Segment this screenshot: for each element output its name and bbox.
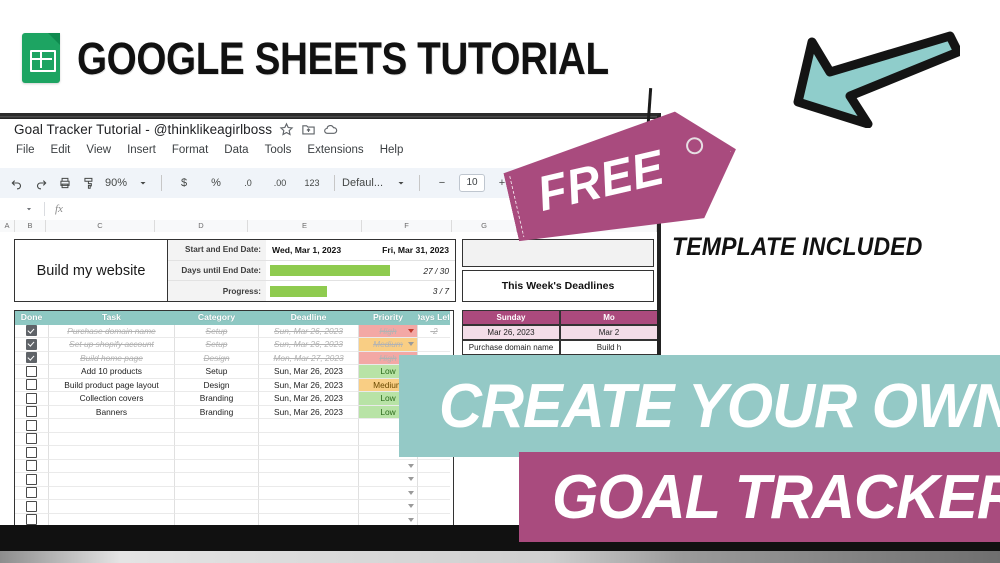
task-days-left-cell	[418, 338, 450, 352]
goal-tracker-text: GOAL TRACKER	[552, 462, 1000, 533]
goal-name[interactable]: Build my website	[15, 240, 168, 301]
create-your-own-banner: CREATE YOUR OWN	[399, 355, 1000, 457]
weekly-deadlines-card: This Week's Deadlines	[462, 270, 654, 302]
paint-format-icon[interactable]	[78, 172, 100, 194]
task-done-cell[interactable]	[15, 473, 49, 487]
chevron-down-icon[interactable]	[390, 172, 412, 194]
checkbox-icon[interactable]	[26, 420, 37, 431]
column-category: Category	[175, 311, 259, 325]
menu-item-edit[interactable]: Edit	[49, 143, 73, 157]
task-name-cell[interactable]	[49, 446, 175, 460]
fx-label: fx	[44, 202, 63, 216]
table-row[interactable]: BannersBrandingSun, Mar 26, 2023Low	[15, 406, 453, 420]
task-done-cell[interactable]	[15, 365, 49, 379]
column-header-f[interactable]: F	[362, 220, 452, 232]
task-deadline-cell[interactable]: Sun, Mar 26, 2023	[259, 392, 359, 406]
task-deadline-cell[interactable]	[259, 446, 359, 460]
task-done-cell[interactable]	[15, 406, 49, 420]
task-table-header-row: Done Task Category Deadline Priority Day…	[15, 311, 453, 325]
document-title-row: Goal Tracker Tutorial - @thinklikeagirlb…	[14, 122, 338, 137]
task-category-cell[interactable]: Setup	[175, 338, 259, 352]
undo-icon[interactable]	[6, 172, 28, 194]
more-formats-button[interactable]: 123	[297, 172, 327, 194]
menu-item-format[interactable]: Format	[170, 143, 210, 157]
task-name-cell[interactable]: Set up shopify account	[49, 338, 175, 352]
goal-summary-card: Build my website Start and End Date: Wed…	[14, 239, 456, 302]
laptop-lip	[0, 551, 1000, 563]
task-done-cell[interactable]	[15, 352, 49, 366]
task-category-cell[interactable]: Design	[175, 379, 259, 393]
task-name-cell[interactable]	[49, 460, 175, 474]
week-date-row: Mar 26, 2023 Mar 2	[462, 325, 657, 340]
task-deadline-cell[interactable]	[259, 487, 359, 501]
dropdown-caret-icon[interactable]	[408, 518, 414, 522]
task-days-left-cell	[418, 500, 450, 514]
task-category-cell[interactable]: Setup	[175, 325, 259, 339]
task-category-cell[interactable]	[175, 500, 259, 514]
week-header-row: Sunday Mo	[462, 310, 657, 325]
goal-stats: Start and End Date: Wed, Mar 1, 2023 Fri…	[168, 240, 455, 301]
move-to-folder-icon[interactable]	[301, 122, 316, 137]
menu-item-help[interactable]: Help	[378, 143, 406, 157]
days-until-end-label: Days until End Date:	[168, 261, 266, 281]
task-done-cell[interactable]	[15, 487, 49, 501]
percent-format-button[interactable]: %	[201, 172, 231, 194]
goal-stat-progress: Progress: 3 / 7	[168, 281, 455, 301]
page-title: GOOGLE SHEETS TUTORIAL	[77, 36, 609, 81]
column-deadline: Deadline	[259, 311, 359, 325]
table-row[interactable]: Build product page layoutDesignSun, Mar …	[15, 379, 453, 393]
menu-item-view[interactable]: View	[84, 143, 113, 157]
hero-header: GOOGLE SHEETS TUTORIAL	[0, 22, 640, 94]
checkbox-icon[interactable]	[26, 352, 37, 363]
task-days-left-cell	[418, 473, 450, 487]
task-priority-cell[interactable]	[359, 460, 418, 474]
table-row[interactable]	[15, 473, 453, 487]
menu-item-insert[interactable]: Insert	[125, 143, 158, 157]
cloud-saved-icon[interactable]	[323, 122, 338, 137]
column-done: Done	[15, 311, 49, 325]
checkbox-icon[interactable]	[26, 325, 37, 336]
checkbox-icon[interactable]	[26, 393, 37, 404]
task-deadline-cell[interactable]	[259, 433, 359, 447]
task-deadline-cell[interactable]	[259, 500, 359, 514]
progress-ratio-value: 3 / 7	[403, 286, 455, 296]
task-name-cell[interactable]: Add 10 products	[49, 365, 175, 379]
checkbox-icon[interactable]	[26, 379, 37, 390]
toolbar-divider-2	[334, 175, 335, 191]
task-priority-cell[interactable]: High	[359, 325, 418, 339]
task-category-cell[interactable]	[175, 487, 259, 501]
task-table: Done Task Category Deadline Priority Day…	[14, 310, 454, 528]
zoom-level[interactable]: 90%	[102, 177, 130, 189]
task-done-cell[interactable]	[15, 500, 49, 514]
task-done-cell[interactable]	[15, 419, 49, 433]
task-name-cell[interactable]	[49, 473, 175, 487]
menu-item-data[interactable]: Data	[222, 143, 250, 157]
week-day-monday: Mo	[560, 310, 657, 325]
task-name-cell[interactable]	[49, 419, 175, 433]
dropdown-caret-icon[interactable]	[408, 477, 414, 481]
task-done-cell[interactable]	[15, 460, 49, 474]
table-row[interactable]	[15, 500, 453, 514]
task-deadline-cell[interactable]: Mon, Mar 27, 2023	[259, 352, 359, 366]
dropdown-caret-icon[interactable]	[408, 504, 414, 508]
week-date-sunday: Mar 26, 2023	[462, 325, 560, 340]
checkbox-icon[interactable]	[26, 514, 37, 525]
column-header-g[interactable]: G	[452, 220, 517, 232]
task-name-cell[interactable]: Collection covers	[49, 392, 175, 406]
column-task: Task	[49, 311, 175, 325]
checkbox-icon[interactable]	[26, 474, 37, 485]
goal-tracker-banner: GOAL TRACKER	[519, 452, 1000, 542]
table-row[interactable]: Collection coversBrandingSun, Mar 26, 20…	[15, 392, 453, 406]
task-done-cell[interactable]	[15, 338, 49, 352]
task-done-cell[interactable]	[15, 325, 49, 339]
task-name-cell[interactable]: Build product page layout	[49, 379, 175, 393]
task-done-cell[interactable]	[15, 433, 49, 447]
table-row[interactable]: Build home pageDesignMon, Mar 27, 2023Hi…	[15, 352, 453, 366]
column-priority: Priority	[359, 311, 418, 325]
days-ratio-value: 27 / 30	[403, 266, 455, 276]
checkbox-icon[interactable]	[26, 447, 37, 458]
table-row[interactable]	[15, 460, 453, 474]
task-priority-cell[interactable]	[359, 500, 418, 514]
task-deadline-cell[interactable]: Sun, Mar 26, 2023	[259, 325, 359, 339]
print-icon[interactable]	[54, 172, 76, 194]
task-days-left-cell	[418, 460, 450, 474]
task-deadline-cell[interactable]	[259, 460, 359, 474]
task-table-body: Purchase domain nameSetupSun, Mar 26, 20…	[15, 325, 453, 528]
task-category-cell[interactable]	[175, 419, 259, 433]
document-name[interactable]: Goal Tracker Tutorial - @thinklikeagirlb…	[14, 122, 272, 137]
week-task-sunday[interactable]: Purchase domain name	[462, 340, 560, 355]
week-task-row: Purchase domain name Build h	[462, 340, 657, 355]
task-deadline-cell[interactable]	[259, 473, 359, 487]
increase-decimal-button[interactable]: .00	[265, 172, 295, 194]
column-header-c[interactable]: C	[46, 220, 155, 232]
google-sheets-logo-icon	[22, 33, 60, 83]
week-day-sunday: Sunday	[462, 310, 560, 325]
task-name-cell[interactable]	[49, 487, 175, 501]
table-row[interactable]: Set up shopify accountSetupSun, Mar 26, …	[15, 338, 453, 352]
task-category-cell[interactable]: Branding	[175, 392, 259, 406]
menu-item-extensions[interactable]: Extensions	[305, 143, 365, 157]
dropdown-caret-icon[interactable]	[408, 491, 414, 495]
dropdown-caret-icon[interactable]	[408, 342, 414, 346]
star-icon[interactable]	[279, 122, 294, 137]
task-category-cell[interactable]	[175, 460, 259, 474]
checkbox-icon[interactable]	[26, 433, 37, 444]
goal-stat-dates: Start and End Date: Wed, Mar 1, 2023 Fri…	[168, 240, 455, 261]
task-category-cell[interactable]: Setup	[175, 365, 259, 379]
task-name-cell[interactable]: Purchase domain name	[49, 325, 175, 339]
font-family-select[interactable]: Defaul...	[342, 177, 388, 189]
task-done-cell[interactable]	[15, 379, 49, 393]
start-end-date-label: Start and End Date:	[168, 240, 266, 260]
days-progress-bar	[270, 265, 390, 276]
table-row[interactable]	[15, 419, 453, 433]
start-date-value[interactable]: Wed, Mar 1, 2023	[272, 245, 341, 255]
task-deadline-cell[interactable]: Sun, Mar 26, 2023	[259, 365, 359, 379]
table-row[interactable]	[15, 487, 453, 501]
checkbox-icon[interactable]	[26, 460, 37, 471]
task-name-cell[interactable]	[49, 500, 175, 514]
create-your-own-text: CREATE YOUR OWN	[439, 371, 1000, 442]
menu-item-file[interactable]: File	[14, 143, 37, 157]
decrease-font-size-button[interactable]: −	[427, 172, 457, 194]
checkbox-icon[interactable]	[26, 406, 37, 417]
weekly-deadlines-table: Sunday Mo Mar 26, 2023 Mar 2 Purchase do…	[462, 310, 657, 355]
column-header-b[interactable]: B	[15, 220, 46, 232]
task-name-cell[interactable]: Build home page	[49, 352, 175, 366]
task-deadline-cell[interactable]: Sun, Mar 26, 2023	[259, 379, 359, 393]
checkbox-icon[interactable]	[26, 487, 37, 498]
column-days-left: Days Left	[418, 311, 450, 325]
table-row[interactable]	[15, 446, 453, 460]
template-included-label: TEMPLATE INCLUDED	[672, 233, 923, 262]
checkbox-icon[interactable]	[26, 366, 37, 377]
toolbar-divider-3	[419, 175, 420, 191]
screenshot-stage: GOOGLE SHEETS TUTORIAL Goal Tracker Tuto…	[0, 0, 1000, 563]
column-header-a[interactable]: A	[0, 220, 15, 232]
menu-item-tools[interactable]: Tools	[263, 143, 294, 157]
task-name-cell[interactable]	[49, 433, 175, 447]
toolbar-divider	[161, 175, 162, 191]
table-row[interactable]: Purchase domain nameSetupSun, Mar 26, 20…	[15, 325, 453, 339]
redo-icon[interactable]	[30, 172, 52, 194]
task-done-cell[interactable]	[15, 446, 49, 460]
task-priority-cell[interactable]: Medium	[359, 338, 418, 352]
table-row[interactable]: Add 10 productsSetupSun, Mar 26, 2023Low	[15, 365, 453, 379]
weekly-deadlines-title: This Week's Deadlines	[502, 280, 615, 292]
week-date-monday: Mar 2	[560, 325, 657, 340]
dropdown-caret-icon[interactable]	[408, 464, 414, 468]
chevron-down-icon[interactable]	[132, 172, 154, 194]
task-priority-cell[interactable]	[359, 487, 418, 501]
task-done-cell[interactable]	[15, 392, 49, 406]
currency-format-button[interactable]: $	[169, 172, 199, 194]
task-category-cell[interactable]: Design	[175, 352, 259, 366]
column-header-d[interactable]: D	[155, 220, 248, 232]
progress-label: Progress:	[168, 281, 266, 301]
table-row[interactable]	[15, 433, 453, 447]
dropdown-caret-icon[interactable]	[408, 329, 414, 333]
task-days-left-cell: -2	[418, 325, 450, 339]
name-box[interactable]	[0, 204, 40, 215]
task-category-cell[interactable]	[175, 473, 259, 487]
task-deadline-cell[interactable]	[259, 419, 359, 433]
task-progress-bar	[270, 286, 327, 297]
task-category-cell[interactable]	[175, 433, 259, 447]
task-priority-cell[interactable]	[359, 473, 418, 487]
task-category-cell[interactable]: Branding	[175, 406, 259, 420]
end-date-value[interactable]: Fri, Mar 31, 2023	[382, 245, 449, 255]
task-days-left-cell	[418, 487, 450, 501]
task-name-cell[interactable]: Banners	[49, 406, 175, 420]
task-deadline-cell[interactable]: Sun, Mar 26, 2023	[259, 406, 359, 420]
column-header-e[interactable]: E	[248, 220, 362, 232]
goal-stat-days-left: Days until End Date: 27 / 30	[168, 261, 455, 282]
menu-bar: File Edit View Insert Format Data Tools …	[14, 143, 405, 157]
week-task-monday[interactable]: Build h	[560, 340, 657, 355]
down-left-arrow-icon	[790, 28, 960, 128]
task-deadline-cell[interactable]: Sun, Mar 26, 2023	[259, 338, 359, 352]
task-category-cell[interactable]	[175, 446, 259, 460]
font-size-input[interactable]: 10	[459, 174, 485, 192]
decrease-decimal-button[interactable]: .0	[233, 172, 263, 194]
checkbox-icon[interactable]	[26, 339, 37, 350]
checkbox-icon[interactable]	[26, 501, 37, 512]
